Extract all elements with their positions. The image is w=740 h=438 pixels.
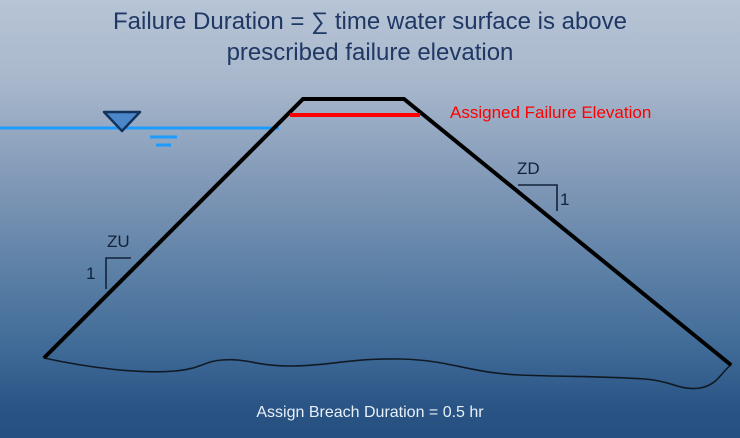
assigned-failure-elevation-label: Assigned Failure Elevation	[450, 103, 651, 123]
slide-canvas: Failure Duration = ∑ time water surface …	[0, 0, 740, 438]
zd-rise-label: 1	[560, 190, 569, 210]
zu-slope-label: ZU	[107, 232, 130, 252]
dam-embankment-outline	[44, 99, 731, 365]
dam-cross-section-diagram	[0, 0, 740, 438]
breach-duration-caption: Assign Breach Duration = 0.5 hr	[0, 404, 740, 422]
zu-rise-label: 1	[86, 264, 95, 284]
natural-ground-line	[44, 358, 731, 389]
zd-slope-label: ZD	[517, 159, 540, 179]
